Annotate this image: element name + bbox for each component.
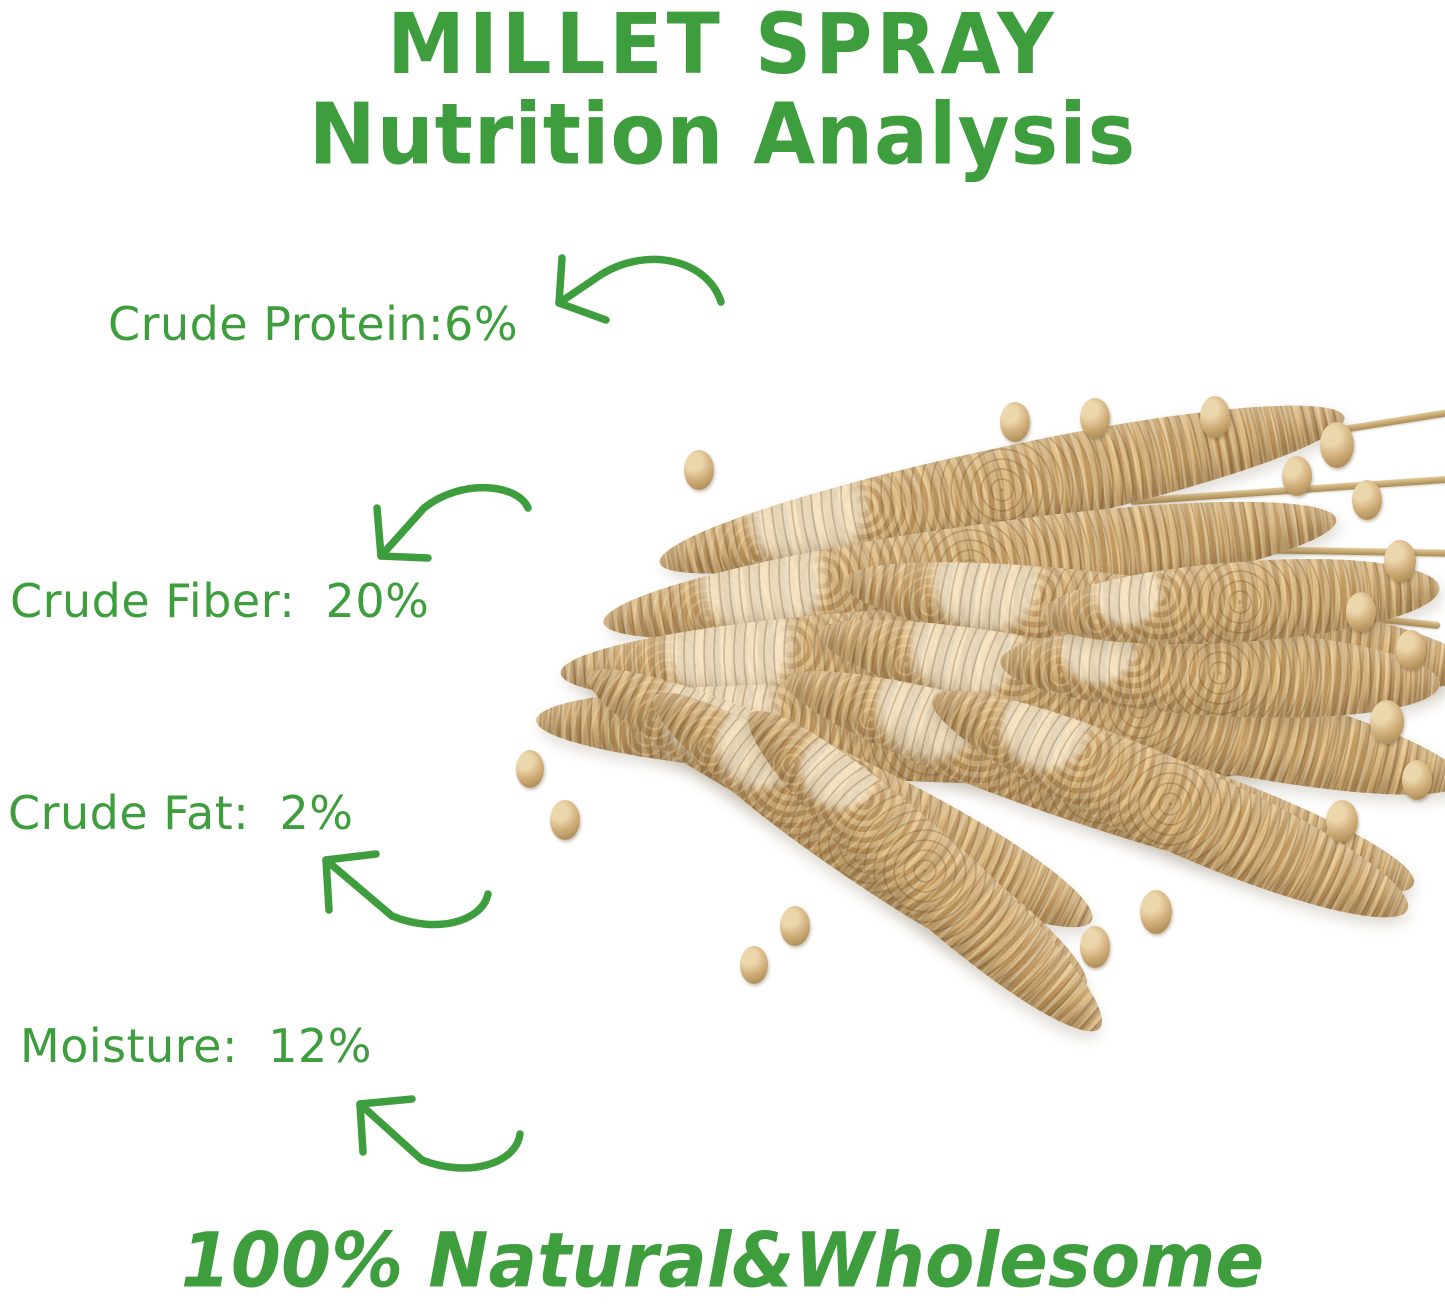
millet-grain-cluster (1396, 630, 1426, 670)
millet-grain-cluster (550, 800, 580, 840)
millet-grain-cluster (1000, 402, 1030, 442)
page-title-line-1: MILLET SPRAY (0, 3, 1445, 89)
millet-grain-cluster (1370, 700, 1404, 744)
nutrition-infographic: MILLET SPRAY Nutrition Analysis (0, 0, 1445, 1308)
millet-grain-cluster (684, 450, 714, 490)
millet-grain-cluster (1200, 396, 1230, 438)
millet-grain-cluster (1080, 398, 1110, 438)
curved-arrow-up-left-icon (318, 1088, 548, 1208)
millet-grain-cluster (1140, 890, 1172, 934)
page-title-line-2: Nutrition Analysis (0, 91, 1445, 177)
millet-grain-cluster (1384, 540, 1416, 582)
millet-grain-cluster (1326, 800, 1358, 842)
millet-grain-cluster (1080, 926, 1110, 968)
page-title: MILLET SPRAY Nutrition Analysis (0, 6, 1445, 175)
footer-tagline: 100% Natural&Wholesome (0, 1216, 1445, 1304)
millet-grain-cluster (1346, 592, 1376, 632)
millet-grain-cluster (516, 750, 544, 788)
millet-spray-image (440, 330, 1445, 1090)
millet-grain-cluster (1282, 456, 1312, 496)
nutrition-label-crude-protein: Crude Protein:6% (108, 297, 518, 351)
millet-grain-cluster (1320, 422, 1354, 468)
millet-grain-cluster (1352, 480, 1382, 520)
millet-grain-cluster (740, 946, 768, 984)
millet-grain-cluster (1402, 760, 1432, 800)
millet-grain-cluster (780, 906, 810, 946)
nutrition-label-crude-fiber: Crude Fiber: 20% (10, 574, 429, 628)
nutrition-label-moisture: Moisture: 12% (20, 1019, 372, 1073)
nutrition-label-crude-fat: Crude Fat: 2% (8, 786, 354, 840)
